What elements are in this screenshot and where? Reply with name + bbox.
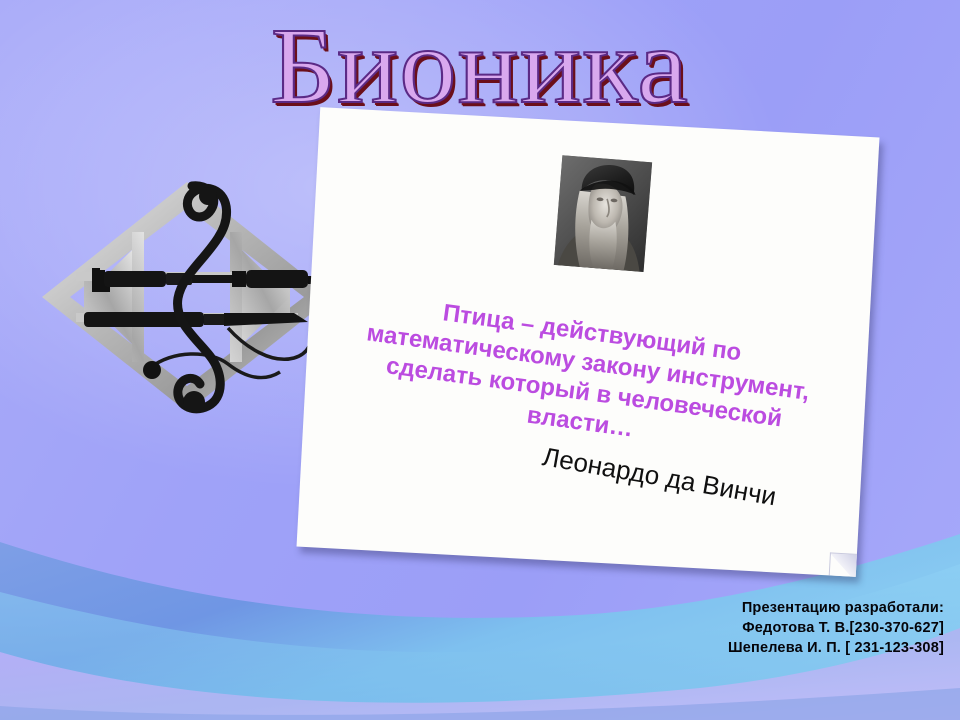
quote-text: Птица – действующий по математическому з… (322, 284, 849, 472)
portrait-image (554, 155, 652, 272)
credits-heading: Презентацию разработали: (524, 598, 944, 618)
emblem-s-curve-top-dot (199, 187, 217, 205)
bionics-emblem-icon (32, 172, 342, 422)
credits-author-2: Шепелева И. П. [ 231-123-308] (524, 638, 944, 658)
leonardo-portrait (554, 155, 652, 272)
emblem-s-curve-bottom-dot (183, 391, 205, 413)
presentation-slide: Бионика (0, 0, 960, 720)
quote-card: Птица – действующий по математическому з… (297, 107, 880, 577)
card-folded-corner (829, 552, 857, 576)
credits-author-1: Федотова Т. В.[230-370-627] (524, 618, 944, 638)
wave-base (0, 688, 960, 720)
emblem-node-dot (143, 361, 161, 379)
credits-block: Презентацию разработали: Федотова Т. В.[… (524, 598, 944, 658)
